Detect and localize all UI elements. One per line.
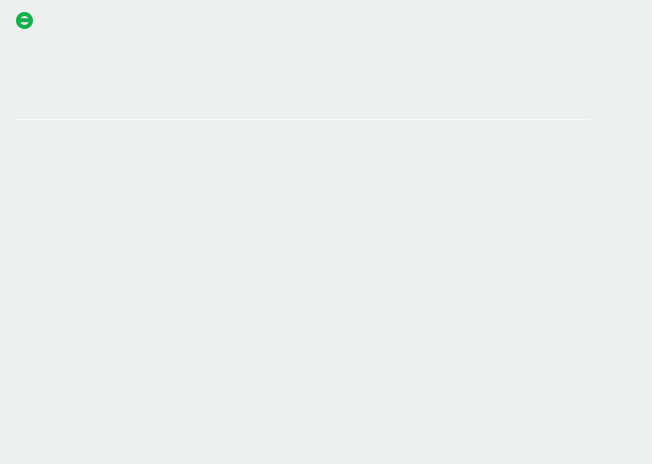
zero-baseline bbox=[14, 119, 589, 120]
atr-plot-area bbox=[14, 292, 589, 392]
chart-page bbox=[0, 0, 652, 464]
candles-plot-area bbox=[14, 30, 589, 210]
logo-o-ring-icon bbox=[16, 12, 33, 29]
